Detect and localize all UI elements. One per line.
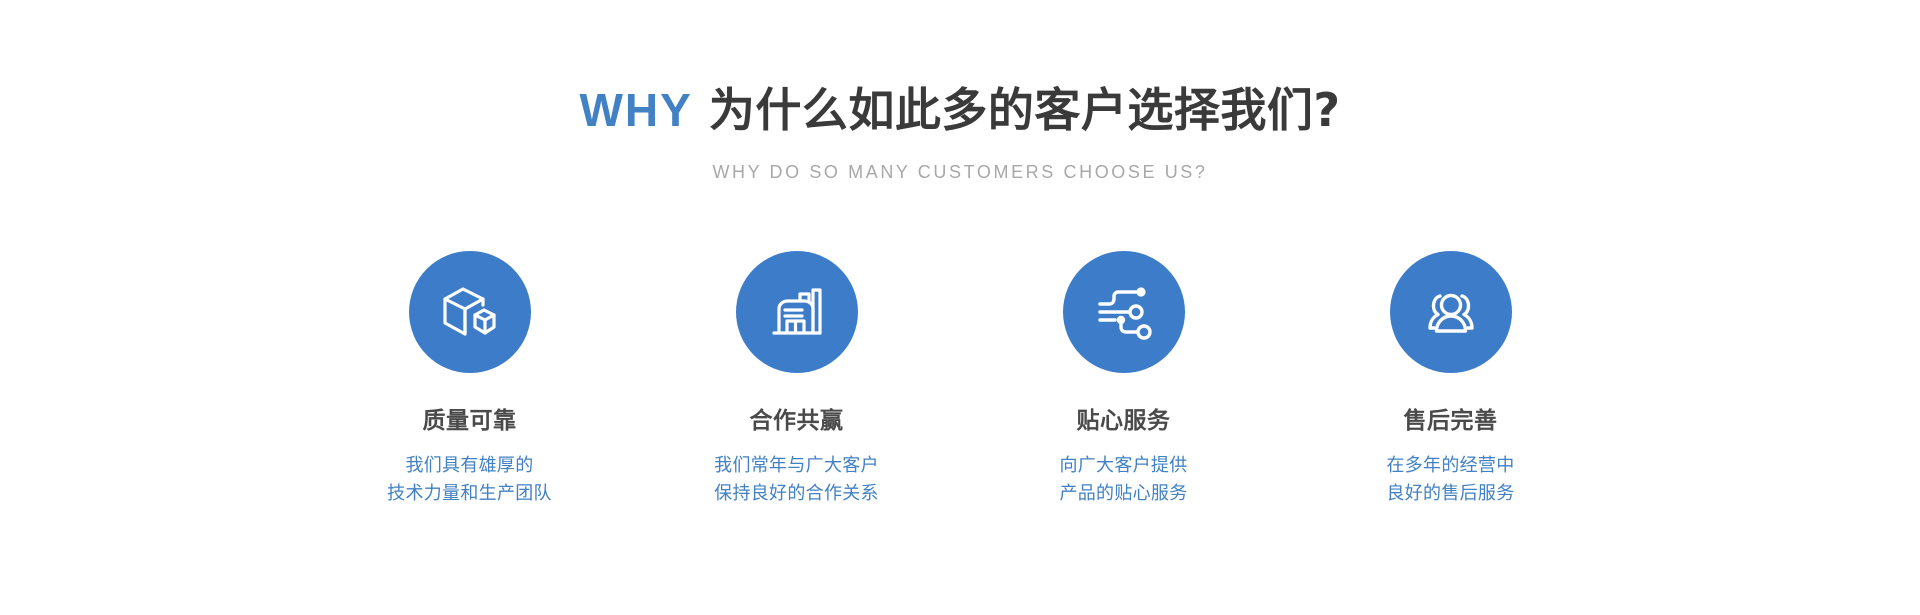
feature-card-description-line: 在多年的经营中 [1386, 452, 1514, 480]
headline-text: 为什么如此多的客户选择我们? [709, 83, 1341, 137]
feature-card-description-line: 保持良好的合作关系 [714, 480, 879, 508]
feature-card-description: 我们常年与广大客户 保持良好的合作关系 [714, 452, 879, 508]
feature-card-description-line: 产品的贴心服务 [1059, 480, 1187, 508]
feature-card-title: 售后完善 [1404, 408, 1498, 436]
feature-cards-row: 质量可靠 我们具有雄厚的 技术力量和生产团队 合作共赢 [0, 251, 1920, 508]
why-choose-us-section: WHY为什么如此多的客户选择我们? WHY DO SO MANY CUSTOME… [0, 0, 1920, 615]
feature-card-aftersales[interactable]: 售后完善 在多年的经营中 良好的售后服务 [1287, 251, 1614, 508]
feature-card-cooperation[interactable]: 合作共赢 我们常年与广大客户 保持良好的合作关系 [633, 251, 960, 508]
feature-card-description-line: 良好的售后服务 [1386, 480, 1514, 508]
feature-card-description-line: 技术力量和生产团队 [387, 480, 552, 508]
feature-card-service[interactable]: 贴心服务 向广大客户提供 产品的贴心服务 [960, 251, 1287, 508]
feature-card-title: 贴心服务 [1077, 408, 1171, 436]
headline-keyword: WHY [579, 84, 692, 136]
feature-card-description-line: 我们具有雄厚的 [387, 452, 552, 480]
page-title: WHY为什么如此多的客户选择我们? [0, 84, 1920, 137]
feature-card-description: 向广大客户提供 产品的贴心服务 [1059, 452, 1187, 508]
feature-card-title: 合作共赢 [750, 408, 844, 436]
feature-card-description: 我们具有雄厚的 技术力量和生产团队 [387, 452, 552, 508]
section-subtitle: WHY DO SO MANY CUSTOMERS CHOOSE US? [0, 137, 1920, 183]
users-group-icon [1390, 251, 1512, 373]
section-heading-block: WHY为什么如此多的客户选择我们? WHY DO SO MANY CUSTOME… [0, 0, 1920, 183]
feature-card-description-line: 我们常年与广大客户 [714, 452, 879, 480]
circuit-network-icon [1063, 251, 1185, 373]
factory-icon [736, 251, 858, 373]
feature-card-description: 在多年的经营中 良好的售后服务 [1386, 452, 1514, 508]
feature-card-title: 质量可靠 [423, 408, 517, 436]
package-box-icon [409, 251, 531, 373]
feature-card-description-line: 向广大客户提供 [1059, 452, 1187, 480]
feature-card-quality[interactable]: 质量可靠 我们具有雄厚的 技术力量和生产团队 [306, 251, 633, 508]
